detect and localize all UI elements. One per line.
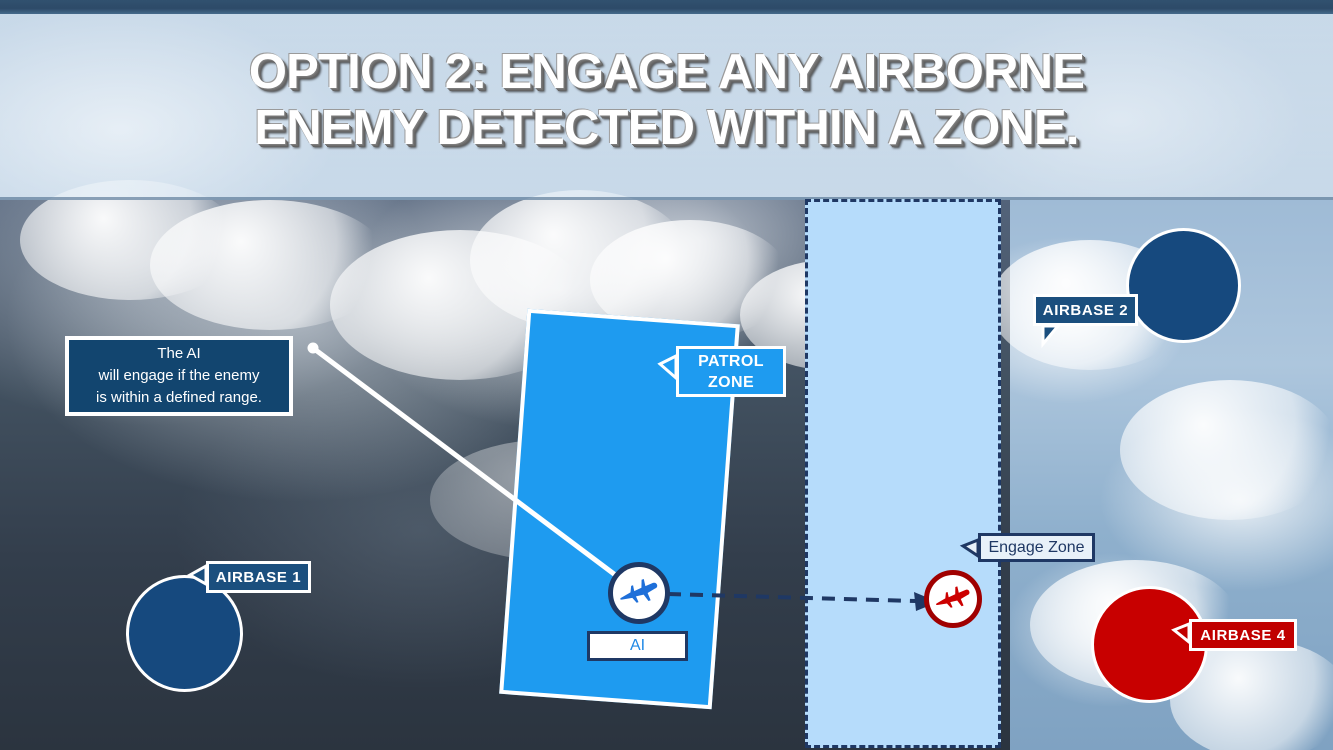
ai-label[interactable]: AI bbox=[587, 631, 688, 661]
ai-aircraft-marker[interactable] bbox=[608, 562, 670, 624]
patrol-zone-label[interactable]: PATROL ZONE bbox=[676, 346, 786, 397]
airbase-2-circle[interactable] bbox=[1126, 228, 1241, 343]
engage-zone-label[interactable]: Engage Zone bbox=[978, 533, 1095, 562]
slide-canvas: OPTION 2: ENGAGE ANY AIRBORNE ENEMY DETE… bbox=[0, 0, 1333, 750]
airbase-4-label[interactable]: AIRBASE 4 bbox=[1189, 619, 1297, 651]
airbase-1-label[interactable]: AIRBASE 1 bbox=[206, 561, 311, 593]
engage-zone-area[interactable] bbox=[805, 199, 1001, 748]
title-band-divider bbox=[0, 197, 1333, 200]
patrol-zone-label-line2: ZONE bbox=[708, 372, 754, 393]
fighter-jet-red-icon bbox=[934, 580, 972, 618]
cloud-puff-icon bbox=[1120, 380, 1333, 520]
enemy-aircraft-marker[interactable] bbox=[924, 570, 982, 628]
ai-engagement-callout: The AI will engage if the enemy is withi… bbox=[65, 336, 293, 416]
cloud-puff-icon bbox=[150, 200, 390, 330]
fighter-jet-blue-icon bbox=[618, 572, 660, 614]
airbase-2-label[interactable]: AIRBASE 2 bbox=[1033, 294, 1138, 326]
cloud-puff-icon bbox=[470, 190, 690, 330]
page-title: OPTION 2: ENGAGE ANY AIRBORNE ENEMY DETE… bbox=[0, 44, 1333, 156]
top-accent-strip bbox=[0, 0, 1333, 14]
patrol-zone-label-line1: PATROL bbox=[698, 351, 764, 372]
